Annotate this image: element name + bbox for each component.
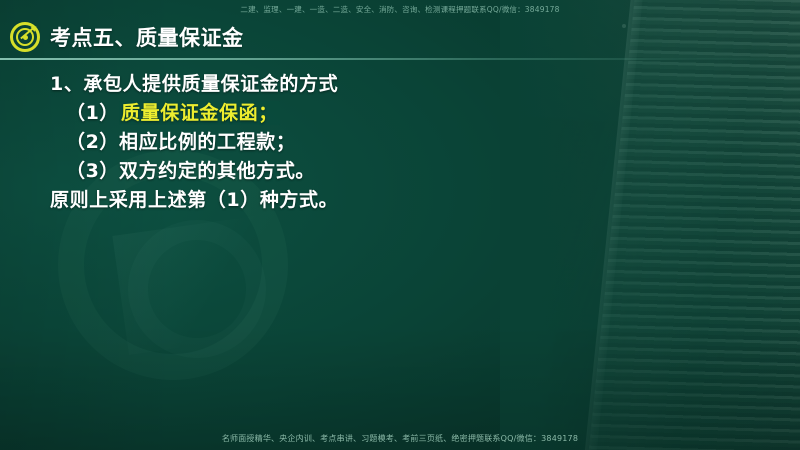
header-divider (0, 58, 800, 60)
content-line-2: （1）质量保证金保函； (0, 99, 800, 128)
skyscraper-photo (500, 0, 800, 450)
swoosh-watermark-icon (112, 215, 277, 355)
top-watermark-text: 二建、监理、一建、一造、二造、安全、消防、咨询、检测课程押题联系QQ/微信：38… (0, 4, 800, 15)
content-line-4-text: （3）双方约定的其他方式。 (66, 160, 315, 182)
slide-header: 考点五、质量保证金 (0, 18, 800, 56)
content-line-1: 1、承包人提供质量保证金的方式 (0, 70, 800, 99)
sky-gradient (500, 0, 800, 450)
vignette-overlay (0, 0, 800, 450)
building-haze-overlay (500, 0, 800, 450)
target-bullseye-arrow-icon (10, 22, 40, 52)
building-side-slab-lower (541, 330, 650, 450)
content-line-2-highlight: 质量保证金保函； (119, 101, 280, 125)
arrow-icon (19, 25, 36, 42)
page-title: 考点五、质量保证金 (50, 22, 244, 52)
content-line-1-text: 1、承包人提供质量保证金的方式 (50, 73, 338, 95)
building-tower-facade (587, 0, 800, 450)
content-line-3-text: （2）相应比例的工程款； (66, 131, 295, 153)
content-line-5: 原则上采用上述第（1）种方式。 (0, 186, 800, 215)
content-line-4: （3）双方约定的其他方式。 (0, 157, 800, 186)
content-line-3: （2）相应比例的工程款； (0, 128, 800, 157)
building-corner-edge (582, 0, 645, 450)
slide-canvas: 二建、监理、一建、一造、二造、安全、消防、咨询、检测课程押题联系QQ/微信：38… (0, 0, 800, 450)
content-line-5-text: 原则上采用上述第（1）种方式。 (50, 189, 338, 211)
content-line-2-prefix: （1） (66, 102, 119, 124)
bottom-watermark-text: 名师面授精华、央企内训、考点串讲、习题模考、考前三页纸、绝密押题联系QQ/微信：… (0, 433, 800, 444)
slide-content: 1、承包人提供质量保证金的方式 （1）质量保证金保函； （2）相应比例的工程款；… (0, 70, 800, 215)
